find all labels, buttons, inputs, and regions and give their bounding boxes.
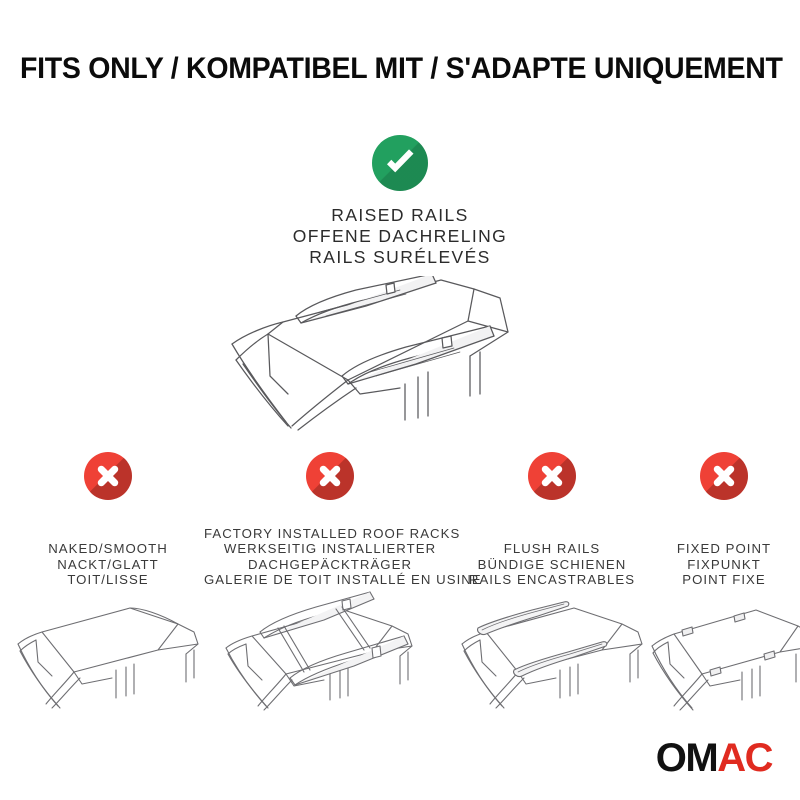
check-glyph xyxy=(372,135,428,191)
page-title: FITS ONLY / KOMPATIBEL MIT / S'ADAPTE UN… xyxy=(20,52,780,86)
label-line-1: NAKED/SMOOTH xyxy=(8,541,208,557)
label-slot: FLUSH RAILS BÜNDIGE SCHIENEN RAILS ENCAS… xyxy=(452,510,652,588)
compatible-label: RAISED RAILS OFFENE DACHRELING RAILS SUR… xyxy=(0,205,800,268)
badge-wrap xyxy=(8,452,208,510)
compatibility-infographic: FITS ONLY / KOMPATIBEL MIT / S'ADAPTE UN… xyxy=(0,0,800,800)
logo-text-red: AC xyxy=(717,736,772,780)
badge-wrap xyxy=(648,452,800,510)
compatible-label-line-1: RAISED RAILS xyxy=(0,205,800,226)
incompatible-label: NAKED/SMOOTH NACKT/GLATT TOIT/LISSE xyxy=(8,541,208,588)
car-roof-fixed-point xyxy=(648,588,800,716)
x-glyph xyxy=(700,452,748,500)
incompatible-item-naked-smooth: NAKED/SMOOTH NACKT/GLATT TOIT/LISSE xyxy=(8,452,208,716)
badge-wrap xyxy=(204,452,456,510)
incompatible-label: FIXED POINT FIXPUNKT POINT FIXE xyxy=(648,541,800,588)
x-circle-icon xyxy=(306,452,354,500)
badge-wrap xyxy=(452,452,652,510)
incompatible-label: FLUSH RAILS BÜNDIGE SCHIENEN RAILS ENCAS… xyxy=(452,541,652,588)
naked-roof-drawing xyxy=(8,588,208,716)
label-line-3: POINT FIXE xyxy=(648,572,800,588)
factory-rack-drawing xyxy=(204,588,456,716)
omac-logo: OMAC xyxy=(656,738,772,778)
incompatible-item-flush-rails: FLUSH RAILS BÜNDIGE SCHIENEN RAILS ENCAS… xyxy=(452,452,652,716)
x-circle-icon xyxy=(84,452,132,500)
incompatible-item-factory-roof-racks: FACTORY INSTALLED ROOF RACKS WERKSEITIG … xyxy=(204,452,456,716)
incompatible-label: FACTORY INSTALLED ROOF RACKS WERKSEITIG … xyxy=(204,526,456,588)
label-line-2: WERKSEITIG INSTALLIERTER xyxy=(204,541,456,557)
label-slot: FIXED POINT FIXPUNKT POINT FIXE xyxy=(648,510,800,588)
incompatible-item-fixed-point: FIXED POINT FIXPUNKT POINT FIXE xyxy=(648,452,800,716)
label-line-1: FLUSH RAILS xyxy=(452,541,652,557)
car-roof-factory-roof-rack xyxy=(204,588,456,716)
label-line-3: RAILS ENCASTRABLES xyxy=(452,572,652,588)
label-line-1: FIXED POINT xyxy=(648,541,800,557)
compatible-label-line-2: OFFENE DACHRELING xyxy=(0,226,800,247)
label-line-2: BÜNDIGE SCHIENEN xyxy=(452,557,652,573)
label-line-2: NACKT/GLATT xyxy=(8,557,208,573)
car-roof-naked-smooth xyxy=(8,588,208,716)
car-roof-with-raised-rails xyxy=(170,276,650,451)
x-glyph xyxy=(306,452,354,500)
label-line-3: DACHGEPÄCKTRÄGER xyxy=(204,557,456,573)
fixed-point-drawing xyxy=(648,588,800,716)
raised-rails-drawing xyxy=(170,276,650,451)
logo-text-dark: OM xyxy=(656,736,717,780)
label-line-3: TOIT/LISSE xyxy=(8,572,208,588)
x-circle-icon xyxy=(700,452,748,500)
car-roof-flush-rails xyxy=(452,588,652,716)
label-slot: NAKED/SMOOTH NACKT/GLATT TOIT/LISSE xyxy=(8,510,208,588)
x-glyph xyxy=(84,452,132,500)
x-circle-icon xyxy=(528,452,576,500)
label-line-4: GALERIE DE TOIT INSTALLÉ EN USINE xyxy=(204,572,456,588)
incompatible-section: NAKED/SMOOTH NACKT/GLATT TOIT/LISSE xyxy=(0,452,800,692)
label-line-2: FIXPUNKT xyxy=(648,557,800,573)
x-glyph xyxy=(528,452,576,500)
compatible-label-line-3: RAILS SURÉLEVÉS xyxy=(0,247,800,268)
label-slot: FACTORY INSTALLED ROOF RACKS WERKSEITIG … xyxy=(204,510,456,588)
label-line-1: FACTORY INSTALLED ROOF RACKS xyxy=(204,526,456,542)
compatible-section: RAISED RAILS OFFENE DACHRELING RAILS SUR… xyxy=(0,135,800,268)
check-circle-icon xyxy=(372,135,428,191)
flush-rails-drawing xyxy=(452,588,652,716)
